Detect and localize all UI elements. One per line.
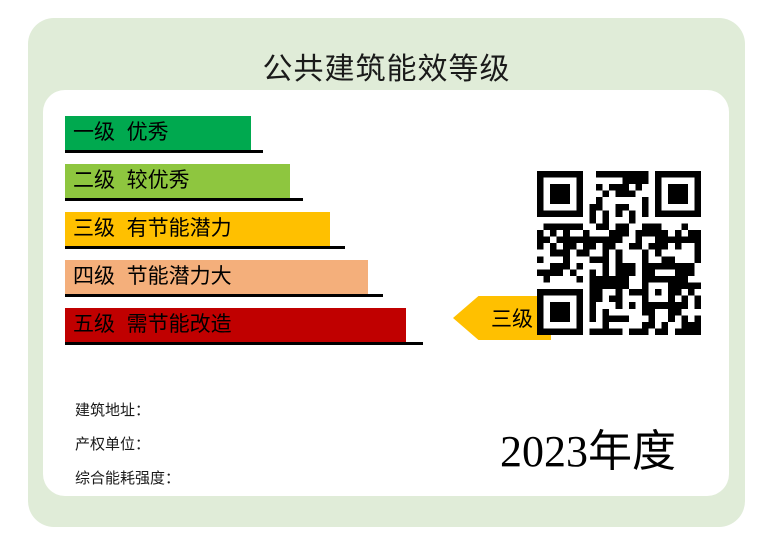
rating-underline-grade-1: [65, 150, 263, 153]
rating-row: 三级 有节能潜力: [65, 212, 465, 260]
rating-underline-grade-3: [65, 246, 345, 249]
qr-code[interactable]: [537, 170, 701, 336]
rating-underline-grade-4: [65, 294, 383, 297]
rating-row: 五级 需节能改造: [65, 308, 465, 356]
year-stamp: 2023年度: [463, 415, 713, 479]
card-inner-panel: 一级 优秀 二级 较优秀 三级 有节能潜力 四级 节能潜力大 五: [43, 90, 729, 496]
rating-row: 四级 节能潜力大: [65, 260, 465, 308]
energy-rating-card: 公共建筑能效等级 一级 优秀 二级 较优秀 三级 有节能潜力: [28, 18, 745, 527]
property-owner-label: 产权单位：: [75, 428, 395, 462]
rating-label-grade-3: 三级 有节能潜力: [73, 212, 232, 246]
building-address-label: 建筑地址：: [75, 394, 395, 428]
rating-label-grade-4: 四级 节能潜力大: [73, 260, 232, 294]
page-title: 公共建筑能效等级: [28, 44, 745, 88]
rating-underline-grade-5: [65, 342, 423, 345]
rating-label-grade-2: 二级 较优秀: [73, 164, 190, 198]
info-fields: 建筑地址： 产权单位： 综合能耗强度：: [75, 394, 395, 496]
rating-label-grade-5: 五级 需节能改造: [73, 308, 232, 342]
rating-scale: 一级 优秀 二级 较优秀 三级 有节能潜力 四级 节能潜力大 五: [65, 116, 465, 356]
rating-underline-grade-2: [65, 198, 303, 201]
rating-row: 二级 较优秀: [65, 164, 465, 212]
rating-row: 一级 优秀: [65, 116, 465, 164]
rating-label-grade-1: 一级 优秀: [73, 116, 169, 150]
energy-intensity-label: 综合能耗强度：: [75, 462, 395, 496]
